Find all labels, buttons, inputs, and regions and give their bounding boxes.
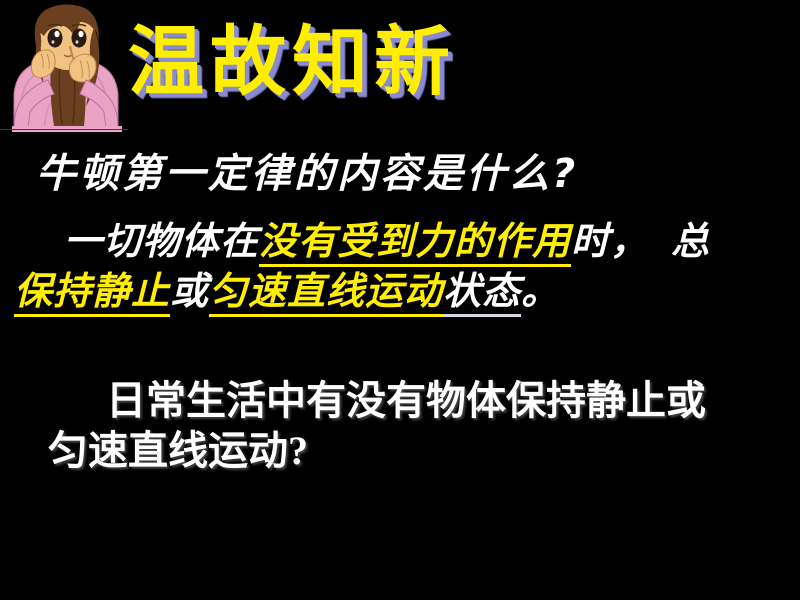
law-seg-highlight-1: 没有受到力的作用 xyxy=(259,219,571,267)
slide-canvas: 温故知新 牛顿第一定律的内容是什么? 一切物体在没有受到力的作用时，总 保持静止… xyxy=(0,0,800,600)
law-seg-highlight-3: 匀速直线运动 xyxy=(209,269,443,317)
law-seg-plain-5: 。 xyxy=(521,269,560,313)
newtons-first-law-paragraph: 一切物体在没有受到力的作用时，总 保持静止或匀速直线运动状态。 xyxy=(12,216,800,316)
discussion-question: 日常生活中有没有物体保持静止或 匀速直线运动? xyxy=(48,376,788,476)
law-seg-plain-2: 时， xyxy=(571,219,649,263)
thinking-girl-clipart xyxy=(8,2,126,132)
law-seg-plain-1: 一切物体在 xyxy=(64,219,259,263)
law-seg-plain-4: 或 xyxy=(170,269,209,313)
slide-title-text: 温故知新 xyxy=(128,12,548,112)
law-seg-plain-3: 总 xyxy=(671,219,710,263)
law-line-1: 一切物体在没有受到力的作用时，总 xyxy=(12,216,800,266)
discussion-question-line-1: 日常生活中有没有物体保持静止或 xyxy=(48,376,788,426)
law-seg-highlight-white: 状态 xyxy=(443,269,521,317)
law-seg-highlight-2: 保持静止 xyxy=(14,269,170,317)
review-question-text: 牛顿第一定律的内容是什么? xyxy=(36,151,578,197)
clipart-edge-guide xyxy=(0,129,128,130)
discussion-question-line-2: 匀速直线运动? xyxy=(48,426,788,476)
law-line-2: 保持静止或匀速直线运动状态。 xyxy=(12,266,800,316)
review-question-line: 牛顿第一定律的内容是什么? xyxy=(36,148,578,200)
slide-title: 温故知新 xyxy=(128,12,548,124)
